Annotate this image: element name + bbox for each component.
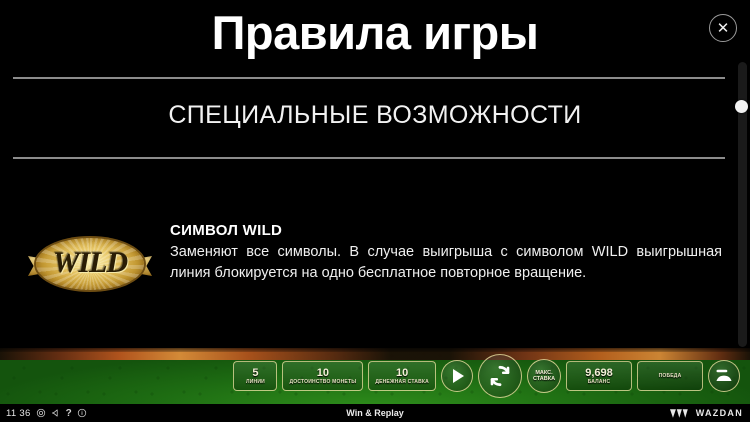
section-title: СПЕЦИАЛЬНЫЕ ВОЗМОЖНОСТИ xyxy=(0,101,750,130)
status-bar: 11 36 ? Win & Replay WAZDAN xyxy=(0,404,750,422)
money-bet-display[interactable]: 10 ДЕНЕЖНАЯ СТАВКА xyxy=(368,361,436,391)
feature-text-block: СИМВОЛ WILD Заменяют все символы. В случ… xyxy=(170,220,728,284)
lines-display[interactable]: 5 ЛИНИИ xyxy=(233,361,277,391)
close-icon[interactable]: ✕ xyxy=(709,14,737,42)
divider-bottom xyxy=(13,157,725,159)
balance-label: БАЛАНС xyxy=(588,379,611,385)
feature-row: WILD СИМВОЛ WILD Заменяют все символы. В… xyxy=(28,220,728,300)
page-title: Правила игры xyxy=(0,4,750,62)
game-control-bar: 5 ЛИНИИ 10 ДОСТОИНСТВО МОНЕТЫ 10 ДЕНЕЖНА… xyxy=(0,352,750,400)
balance-value: 9,698 xyxy=(585,368,613,379)
coin-label: ДОСТОИНСТВО МОНЕТЫ xyxy=(289,379,356,385)
scrollbar-thumb[interactable] xyxy=(735,100,748,113)
feature-heading: СИМВОЛ WILD xyxy=(170,222,728,239)
bet-value: 10 xyxy=(396,368,408,379)
divider-top xyxy=(13,77,725,79)
menu-icon xyxy=(714,368,734,384)
coin-denomination-group: 10 ДОСТОИНСТВО МОНЕТЫ xyxy=(282,361,363,391)
spin-icon xyxy=(487,363,513,389)
game-rules-overlay: Правила игры ✕ СПЕЦИАЛЬНЫЕ ВОЗМОЖНОСТИ W… xyxy=(0,0,750,348)
max-bet-label: МАКС. СТАВКА xyxy=(528,370,560,383)
wild-symbol-image: WILD xyxy=(28,230,152,300)
game-screen: 5 ЛИНИИ 10 ДОСТОИНСТВО МОНЕТЫ 10 ДЕНЕЖНА… xyxy=(0,0,750,422)
max-bet-button[interactable]: МАКС. СТАВКА xyxy=(527,359,561,393)
spin-button[interactable] xyxy=(478,354,522,398)
coin-value: 10 xyxy=(317,368,329,379)
win-display: ПОБЕДА xyxy=(637,361,703,391)
lines-value: 5 xyxy=(252,368,258,379)
balance-display: 9,698 БАЛАНС xyxy=(566,361,632,391)
autoplay-button[interactable] xyxy=(441,360,473,392)
feature-body: Заменяют все символы. В случае выигрыша … xyxy=(170,242,722,284)
bet-label: ДЕНЕЖНАЯ СТАВКА xyxy=(375,379,429,385)
coin-denomination-display[interactable]: 10 ДОСТОИНСТВО МОНЕТЫ xyxy=(282,361,363,391)
play-icon xyxy=(453,369,464,383)
lines-label: ЛИНИИ xyxy=(246,379,265,385)
wild-symbol-label: WILD xyxy=(53,246,127,280)
win-label: ПОБЕДА xyxy=(659,373,682,379)
menu-button[interactable] xyxy=(708,360,740,392)
status-center-label: Win & Replay xyxy=(0,408,750,418)
